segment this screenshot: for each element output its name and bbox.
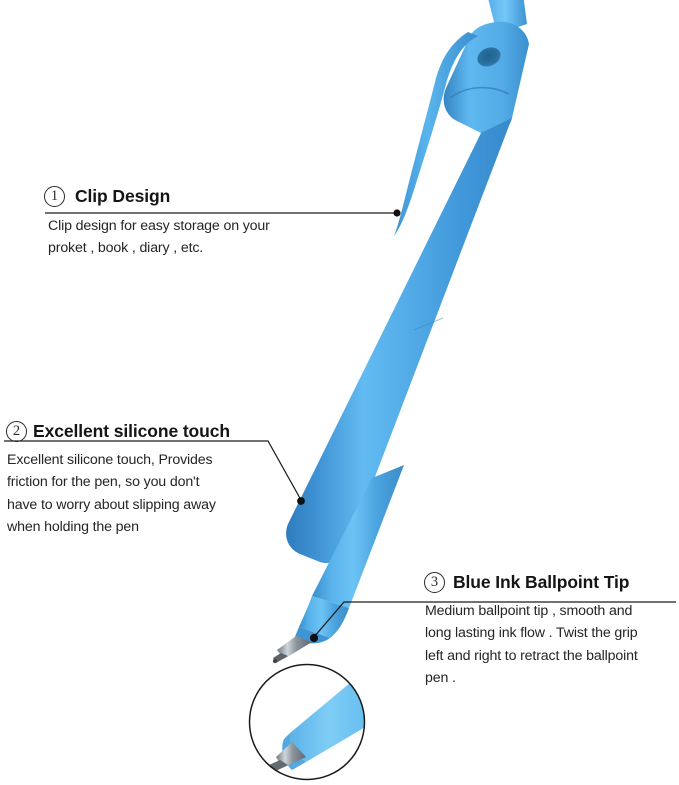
pen-ballpoint-tip: [273, 636, 312, 663]
callout-2-body: Excellent silicone touch, Provides frict…: [7, 449, 230, 539]
callout-2-line-4: when holding the pen: [7, 516, 230, 538]
callout-ballpoint-tip: 3 Blue Ink Ballpoint Tip Medium ballpoin…: [424, 572, 638, 690]
callout-3-title: Blue Ink Ballpoint Tip: [453, 572, 629, 593]
callout-3-body: Medium ballpoint tip , smooth and long l…: [425, 600, 638, 690]
callout-2-line-3: have to worry about slipping away: [7, 494, 230, 516]
pen-illustration: [273, 0, 529, 663]
callout-2-heading: 2 Excellent silicone touch: [6, 421, 230, 442]
leader-dot-1: [393, 209, 400, 216]
leader-dot-2: [297, 497, 305, 505]
callout-2-title: Excellent silicone touch: [33, 421, 230, 442]
callout-silicone-touch: 2 Excellent silicone touch Excellent sil…: [6, 421, 230, 539]
callout-3-line-2: long lasting ink flow . Twist the grip: [425, 622, 638, 644]
product-infographic: 1 Clip Design Clip design for easy stora…: [0, 0, 679, 785]
callout-1-heading: 1 Clip Design: [44, 186, 270, 207]
pen-cap: [444, 22, 529, 135]
callout-3-heading: 3 Blue Ink Ballpoint Tip: [424, 572, 638, 593]
callout-2-line-2: friction for the pen, so you don't: [7, 471, 230, 493]
callout-3-line-1: Medium ballpoint tip , smooth and: [425, 600, 638, 622]
callout-1-number: 1: [44, 186, 65, 207]
callout-clip-design: 1 Clip Design Clip design for easy stora…: [44, 186, 270, 260]
callout-2-number: 2: [6, 421, 27, 442]
callout-3-line-4: pen .: [425, 667, 638, 689]
callout-3-line-3: left and right to retract the ballpoint: [425, 645, 638, 667]
callout-1-line-1: Clip design for easy storage on your: [48, 215, 270, 237]
magnifier-detail: [248, 648, 428, 783]
callout-1-title: Clip Design: [75, 186, 170, 207]
pen-barrel: [286, 118, 512, 563]
leader-dot-3: [310, 634, 318, 642]
callout-3-number: 3: [424, 572, 445, 593]
callout-2-line-1: Excellent silicone touch, Provides: [7, 449, 230, 471]
callout-1-body: Clip design for easy storage on your pro…: [48, 215, 270, 260]
callout-1-line-2: proket , book , diary , etc.: [48, 237, 270, 259]
